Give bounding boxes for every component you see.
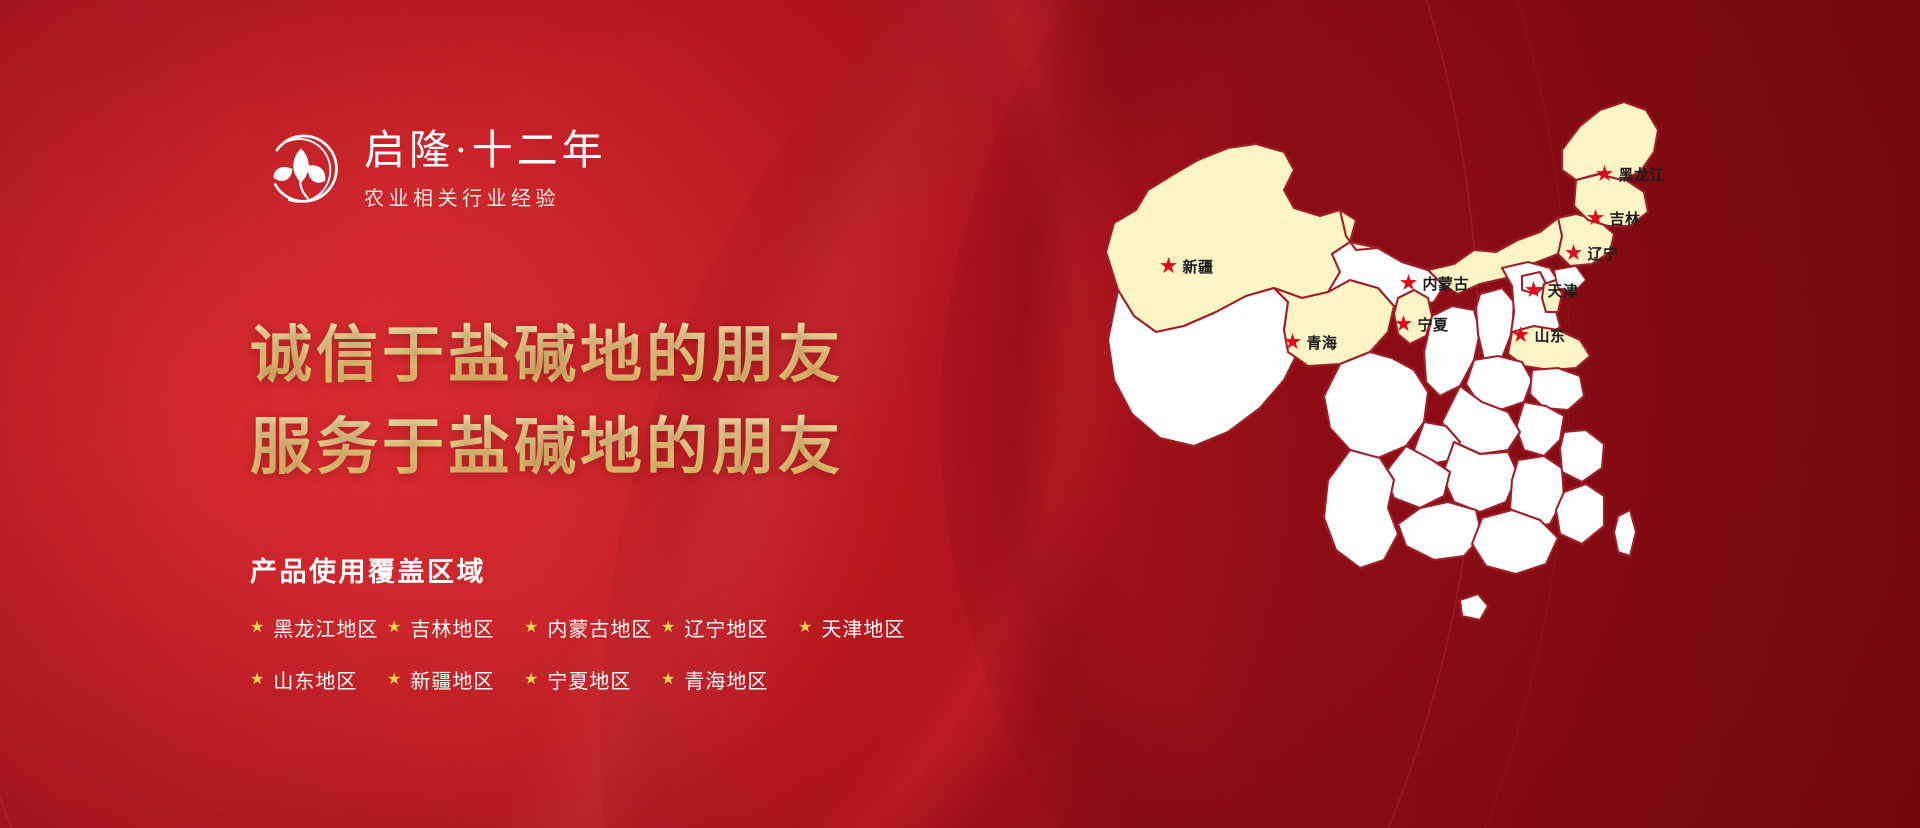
headline-block: 诚信于盐碱地的朋友 服务于盐碱地的朋友	[250, 310, 844, 494]
map-marker-5: ★山东	[1512, 325, 1566, 346]
province-yunnan	[1324, 450, 1398, 568]
brand-subtitle: 农业相关行业经验	[364, 182, 607, 211]
map-pin-star-icon: ★	[1400, 274, 1418, 293]
coverage-region-item: ★天津地区	[798, 613, 905, 642]
coverage-region-item: ★辽宁地区	[661, 613, 798, 642]
map-marker-label: 黑龙江	[1619, 164, 1666, 185]
coverage-region-grid: ★黑龙江地区★吉林地区★内蒙古地区★辽宁地区★天津地区★山东地区★新疆地区★宁夏…	[250, 613, 905, 694]
map-marker-label: 吉林	[1610, 208, 1641, 229]
coverage-region-item: ★宁夏地区	[524, 665, 661, 694]
province-sichuan	[1324, 352, 1428, 458]
map-marker-label: 宁夏	[1418, 314, 1449, 335]
map-marker-label: 辽宁	[1588, 243, 1619, 264]
map-marker-label: 青海	[1307, 332, 1338, 353]
map-marker-3: ★内蒙古	[1400, 273, 1469, 294]
coverage-region-item: ★山东地区	[250, 665, 387, 694]
coverage-region-item: ★吉林地区	[387, 613, 524, 642]
map-marker-6: ★宁夏	[1395, 314, 1449, 335]
map-marker-0: ★黑龙江	[1596, 164, 1665, 185]
coverage-region-item: ★内蒙古地区	[524, 613, 661, 642]
coverage-region-label: 天津地区	[821, 613, 905, 642]
coverage-region-item: ★青海地区	[661, 665, 798, 694]
headline-line-1: 诚信于盐碱地的朋友	[250, 310, 844, 402]
brand-title: 启隆·十二年	[364, 127, 607, 174]
map-pin-star-icon: ★	[1395, 315, 1413, 334]
province-hainan	[1460, 594, 1488, 620]
star-icon: ★	[387, 620, 401, 636]
province-fujian	[1556, 484, 1604, 544]
map-marker-label: 山东	[1535, 325, 1566, 346]
map-marker-1: ★吉林	[1587, 208, 1641, 229]
map-pin-star-icon: ★	[1160, 257, 1178, 276]
map-marker-label: 新疆	[1183, 256, 1214, 277]
star-icon: ★	[661, 620, 675, 636]
coverage-region-label: 宁夏地区	[547, 665, 631, 694]
coverage-section: 产品使用覆盖区域 ★黑龙江地区★吉林地区★内蒙古地区★辽宁地区★天津地区★山东地…	[250, 550, 905, 694]
map-pin-star-icon: ★	[1512, 326, 1530, 345]
map-pin-star-icon: ★	[1565, 244, 1583, 263]
province-zhejiang	[1560, 430, 1604, 482]
star-icon: ★	[524, 620, 538, 636]
promotional-banner: 启隆·十二年 农业相关行业经验 诚信于盐碱地的朋友 服务于盐碱地的朋友 产品使用…	[0, 0, 1920, 828]
china-map: ★黑龙江★吉林★辽宁★内蒙古★天津★山东★宁夏★新疆★青海	[1088, 40, 1848, 780]
coverage-region-label: 青海地区	[684, 665, 768, 694]
map-marker-label: 内蒙古	[1423, 273, 1470, 294]
map-marker-2: ★辽宁	[1565, 243, 1619, 264]
star-icon: ★	[387, 672, 401, 688]
map-marker-8: ★青海	[1284, 332, 1338, 353]
coverage-region-label: 辽宁地区	[684, 613, 768, 642]
china-map-svg	[1088, 40, 1848, 780]
map-marker-7: ★新疆	[1160, 256, 1214, 277]
coverage-title: 产品使用覆盖区域	[250, 550, 905, 589]
star-icon: ★	[524, 672, 538, 688]
coverage-region-item: ★黑龙江地区	[250, 613, 387, 642]
coverage-region-label: 吉林地区	[410, 613, 494, 642]
star-icon: ★	[250, 672, 264, 688]
coverage-region-item: ★新疆地区	[387, 665, 524, 694]
province-guangxi	[1398, 502, 1482, 560]
map-marker-label: 天津	[1548, 280, 1579, 301]
map-pin-star-icon: ★	[1284, 333, 1302, 352]
star-icon: ★	[798, 620, 812, 636]
map-marker-4: ★天津	[1525, 280, 1579, 301]
coverage-region-label: 新疆地区	[410, 665, 494, 694]
province-taiwan	[1614, 510, 1636, 556]
left-content-panel: 启隆·十二年 农业相关行业经验 诚信于盐碱地的朋友 服务于盐碱地的朋友 产品使用…	[0, 0, 900, 828]
coverage-region-label: 黑龙江地区	[273, 613, 378, 642]
map-pin-star-icon: ★	[1525, 281, 1543, 300]
headline-line-2: 服务于盐碱地的朋友	[250, 402, 844, 494]
star-icon: ★	[661, 672, 675, 688]
star-icon: ★	[250, 620, 264, 636]
brand-text-block: 启隆·十二年 农业相关行业经验	[364, 127, 607, 211]
map-pin-star-icon: ★	[1587, 209, 1605, 228]
coverage-region-label: 内蒙古地区	[547, 613, 652, 642]
brand-logo-block: 启隆·十二年 农业相关行业经验	[258, 126, 607, 212]
map-pin-star-icon: ★	[1596, 165, 1614, 184]
coverage-region-label: 山东地区	[273, 665, 357, 694]
lotus-leaf-logo-icon	[258, 126, 344, 212]
